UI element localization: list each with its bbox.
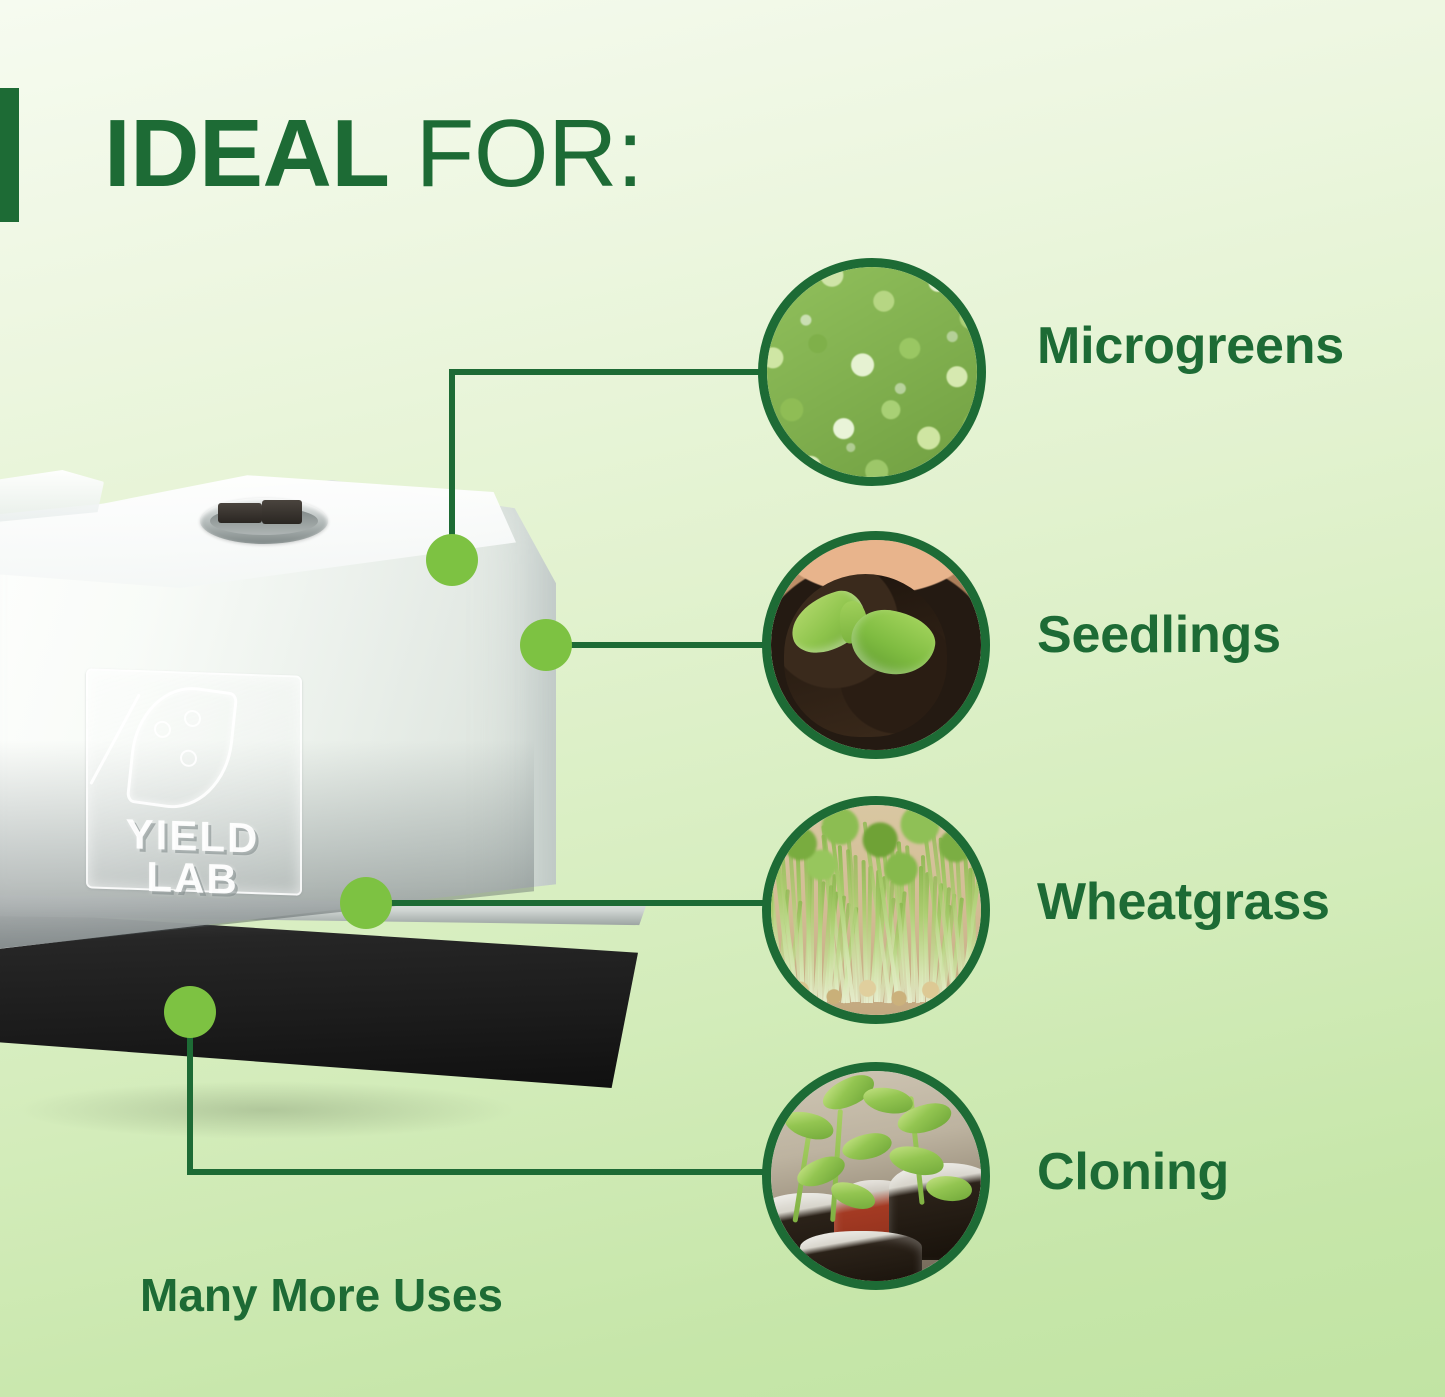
thumb-seedlings[interactable] (762, 531, 990, 759)
microgreens-photo (767, 267, 977, 477)
hotspot-dot-wheatgrass[interactable] (340, 877, 392, 929)
thumb-wheatgrass[interactable] (762, 796, 990, 1024)
thumb-microgreens[interactable] (758, 258, 986, 486)
connector-cloning (190, 1012, 772, 1172)
use-label-seedlings: Seedlings (1037, 605, 1281, 665)
hotspot-dot-seedlings[interactable] (520, 619, 572, 671)
seedlings-photo (771, 540, 981, 750)
hotspot-dot-cloning[interactable] (164, 986, 216, 1038)
cloning-photo (771, 1071, 981, 1281)
hotspot-dot-microgreens[interactable] (426, 534, 478, 586)
use-label-cloning: Cloning (1037, 1142, 1229, 1202)
use-label-wheatgrass: Wheatgrass (1037, 872, 1330, 932)
thumb-cloning[interactable] (762, 1062, 990, 1290)
wheatgrass-photo (771, 805, 981, 1015)
use-label-microgreens: Microgreens (1037, 316, 1344, 376)
infographic-canvas: IDEAL FOR: YIELD LAB (0, 0, 1445, 1397)
footnote-many-more-uses: Many More Uses (140, 1268, 503, 1322)
connector-microgreens (452, 372, 765, 560)
